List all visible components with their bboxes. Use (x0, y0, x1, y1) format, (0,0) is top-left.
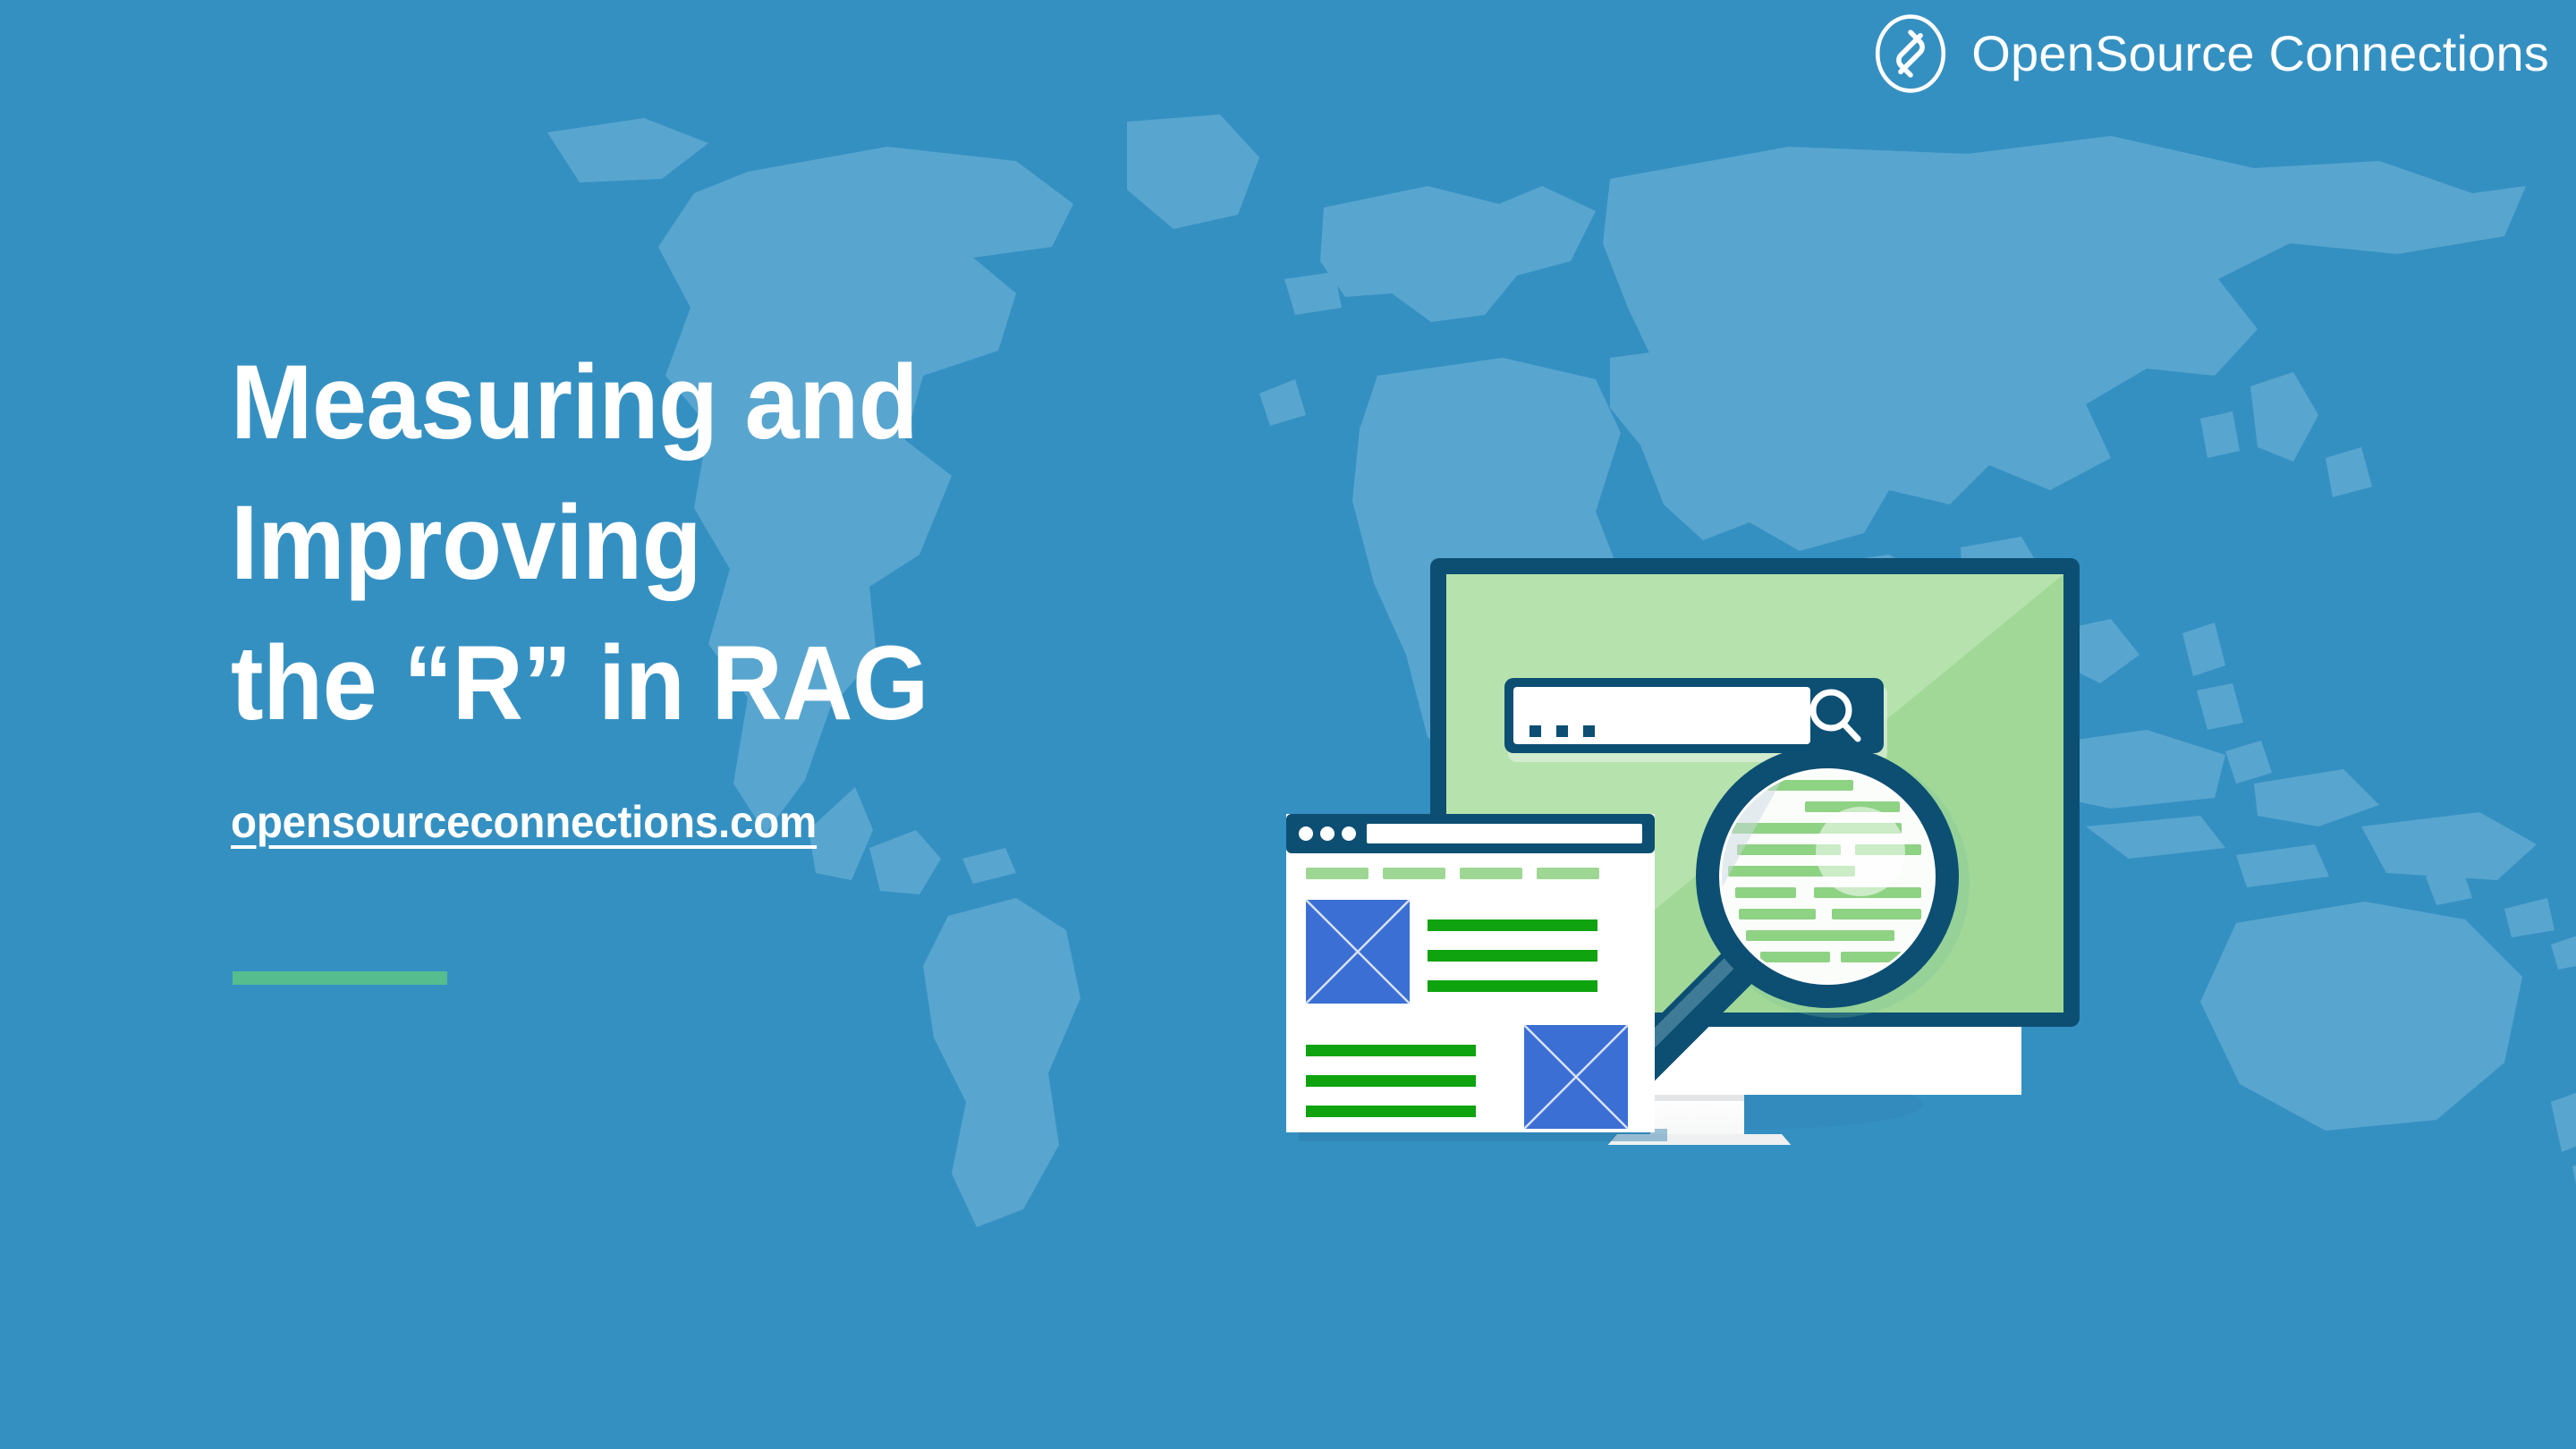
brand-lockup: OpenSource Connections (1869, 13, 2549, 95)
opensource-connections-mark-icon (1869, 13, 1952, 95)
browser-document-card (1286, 814, 1667, 1141)
slide-root: OpenSource Connections Measuring and Imp… (0, 0, 2576, 1449)
brand-name: OpenSource Connections (1971, 29, 2549, 79)
search-placeholder-dot (1529, 725, 1541, 737)
search-placeholder-dot (1583, 725, 1595, 737)
page-title: Measuring and Improving the “R” in RAG (231, 333, 1312, 754)
website-link[interactable]: opensourceconnections.com (231, 796, 817, 848)
doc-text-line-group (1428, 919, 1597, 992)
title-block: Measuring and Improving the “R” in RAG (231, 333, 1394, 754)
accent-rule (233, 971, 447, 985)
search-retrieval-illustration (1234, 519, 2147, 1145)
window-dot (1320, 826, 1335, 841)
doc-card-address-bar (1367, 824, 1642, 843)
window-dot (1342, 826, 1356, 841)
image-placeholder (1524, 1025, 1628, 1129)
search-placeholder-dot (1556, 725, 1568, 737)
doc-text-line-group (1306, 1045, 1476, 1117)
image-placeholder (1306, 900, 1410, 1004)
window-dot (1299, 826, 1313, 841)
